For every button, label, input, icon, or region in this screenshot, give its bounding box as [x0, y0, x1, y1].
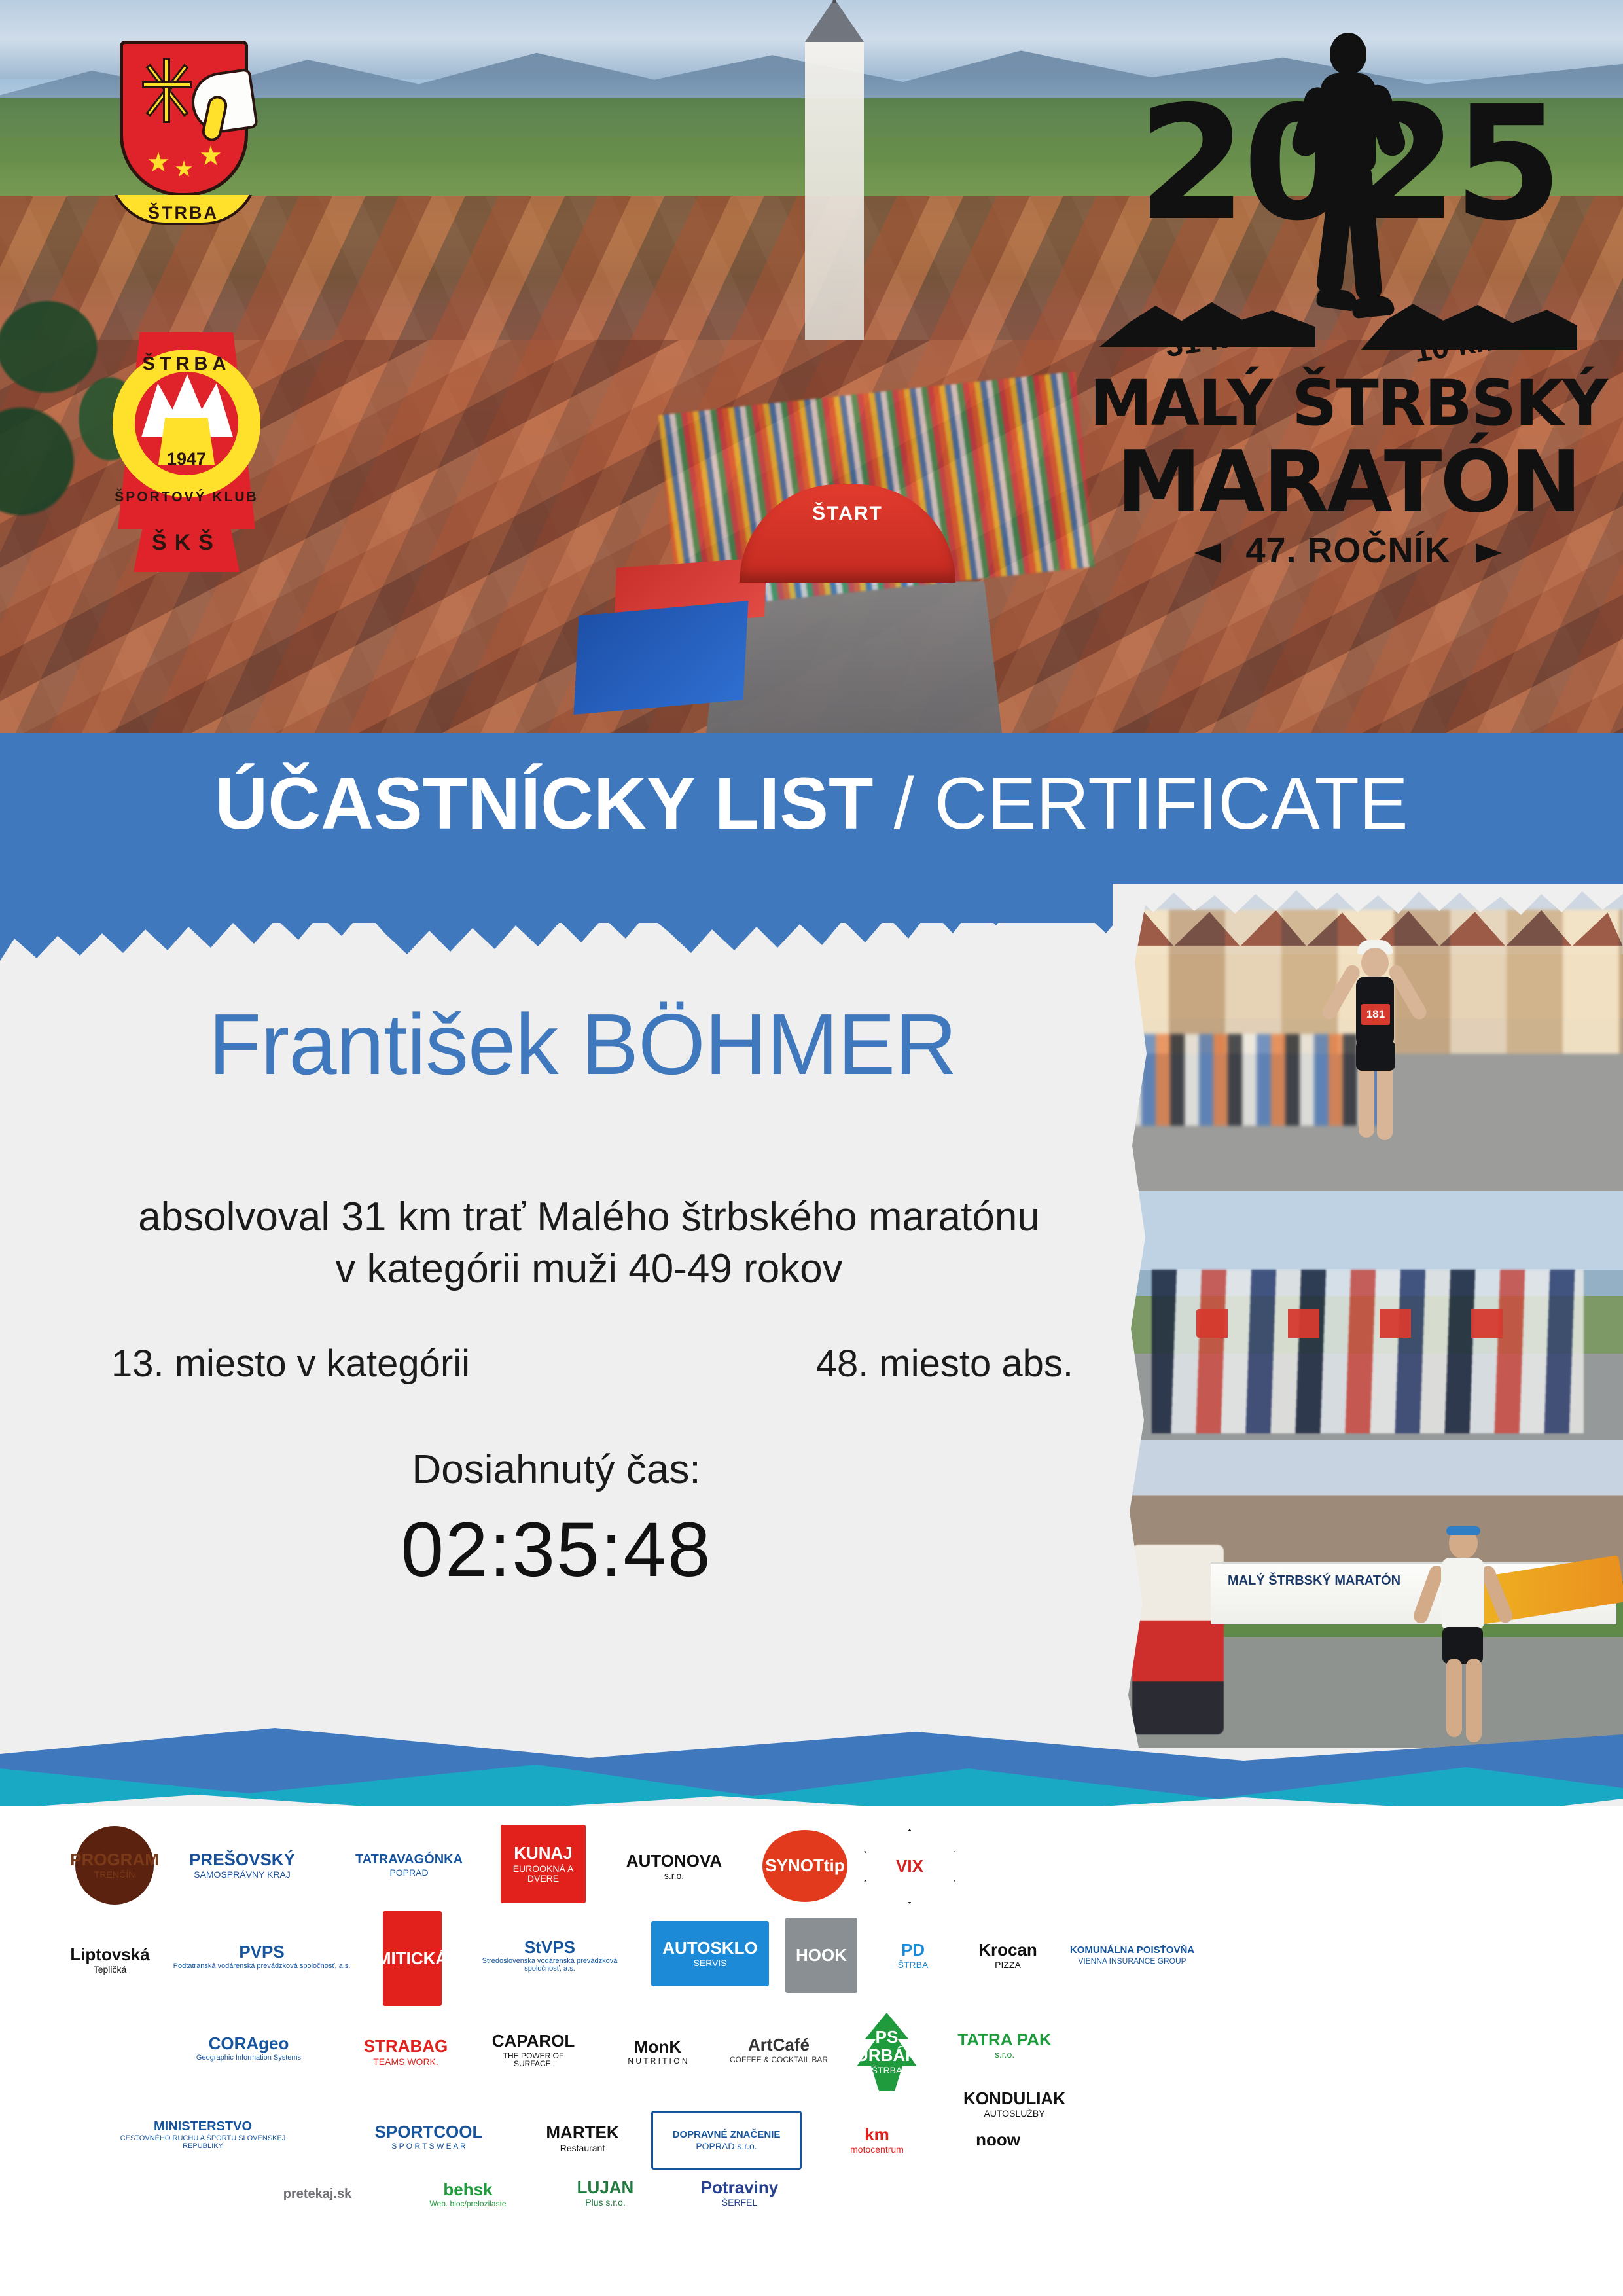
sponsor-logo: SPORTCOOLS P O R T S W E A R — [363, 2104, 494, 2170]
sponsor-logo: HOOK — [785, 1918, 857, 1993]
sponsor-name: AUTOSKLO — [662, 1939, 757, 1958]
sponsor-name: Liptovská — [70, 1946, 149, 1964]
photo-female-finisher: 181 — [1113, 884, 1623, 1204]
sponsor-logo-mark: AUTONOVAs.r.o. — [599, 1827, 749, 1906]
runner-silhouette-icon — [1296, 33, 1400, 340]
sponsor-logo: KOMUNÁLNA POISŤOVŇAVIENNA INSURANCE GROU… — [1063, 1919, 1201, 1991]
sports-club-logo: ŠTRBA 1947 ŠPORTOVÝ KLUB ŠKŠ — [98, 326, 275, 575]
sponsor-logo-mark: KOMUNÁLNA POISŤOVŇAVIENNA INSURANCE GROU… — [1063, 1919, 1201, 1991]
sponsor-name: PVPS — [239, 1943, 284, 1962]
sponsor-logo-mark: LiptovskáTepličká — [61, 1911, 159, 2009]
place-absolute: 48. miesto abs. — [816, 1342, 1113, 1386]
sponsor-tagline: THE POWER OF SURFACE. — [484, 2052, 583, 2068]
sponsor-name: PS URBÁR — [850, 2028, 923, 2064]
finish-time: 02:35:48 — [79, 1505, 1034, 1594]
photo-runner-group — [1113, 1191, 1623, 1453]
event-edition-row: 47. ROČNÍK — [1086, 530, 1610, 571]
title-slovak: ÚČASTNÍCKY LIST — [215, 762, 873, 844]
sponsor-name: MonK — [634, 2038, 681, 2056]
sponsor-name: km — [865, 2126, 889, 2144]
sponsor-logo-mark: PDŠTRBA — [874, 1916, 952, 1995]
sponsor-logo: STRABAGTEAMS WORK. — [344, 2021, 468, 2083]
male-finisher-figure — [1420, 1518, 1505, 1734]
sponsor-logo: noow — [952, 2111, 1044, 2170]
sponsor-logo: PREŠOVSKÝSAMOSPRÁVNY KRAJ — [167, 1833, 317, 1898]
sponsor-tagline: VIENNA INSURANCE GROUP — [1078, 1957, 1186, 1965]
sponsor-logo-mark: SYNOTtip — [762, 1830, 847, 1902]
start-arch-label: ŠTART — [812, 503, 883, 525]
sponsor-logo-mark: PROGRAMTRENČÍN — [75, 1826, 154, 1905]
sponsor-logo: MITICKÁ — [383, 1911, 442, 2006]
sponsor-name: TATRAVAGÓNKA — [355, 1853, 463, 1867]
folk-costume-spectator — [1132, 1545, 1224, 1734]
club-abbrev: ŠKŠ — [98, 530, 275, 556]
sponsor-logo: kmmotocentrum — [828, 2108, 926, 2173]
sponsor-logo-mark: noow — [952, 2111, 1044, 2170]
runner-group — [1152, 1270, 1584, 1433]
triple-cross-icon — [138, 58, 194, 123]
race-bibs — [1196, 1309, 1510, 1338]
sponsor-tagline: Podtatranská vodárenská prevádzková spol… — [173, 1963, 351, 1971]
sponsor-tagline: POPRAD s.r.o. — [696, 2142, 757, 2151]
sponsor-logo-mark: MARTEKRestaurant — [533, 2101, 632, 2176]
event-logo: 2025 31 km 10 km MALÝ ŠTRBSKÝ MARATÓN 47… — [1086, 26, 1610, 602]
sponsor-tagline: COFFEE & COCKTAIL BAR — [730, 2056, 828, 2064]
arrow-left-icon — [1194, 543, 1221, 563]
time-label: Dosiahnutý čas: — [79, 1446, 1034, 1493]
title-separator: / — [873, 762, 934, 844]
sponsor-logo-mark: MonKN U T R I T I O N — [605, 2019, 710, 2085]
event-title-line1: MALÝ ŠTRBSKÝ — [1086, 367, 1610, 440]
sponsor-name: AUTONOVA — [626, 1852, 722, 1871]
sponsor-tagline: PIZZA — [995, 1960, 1021, 1970]
sponsor-logo: PS URBÁRŠTRBA — [847, 2013, 926, 2091]
sponsor-logo-mark: PREŠOVSKÝSAMOSPRÁVNY KRAJ — [167, 1833, 317, 1898]
sponsor-name: PD — [901, 1941, 925, 1960]
sponsor-logo: AUTOSKLOSERVIS — [651, 1921, 769, 1986]
strba-coat-of-arms: ŠTRBA — [108, 41, 259, 230]
sponsor-logo-mark: PVPSPodtatranská vodárenská prevádzková … — [167, 1918, 357, 1996]
bib-number: 181 — [1361, 1004, 1390, 1025]
sponsor-logo-mark: PS URBÁRŠTRBA — [847, 2013, 926, 2091]
sponsor-logo: KrocanPIZZA — [965, 1916, 1050, 1995]
sponsor-name: TATRA PAK — [957, 2031, 1051, 2049]
sponsor-logo: TATRA PAKs.r.o. — [946, 2016, 1063, 2075]
club-arc-text: ŠPORTOVÝ KLUB — [98, 490, 275, 505]
sponsor-logo: TATRAVAGÓNKAPOPRAD — [330, 1833, 488, 1898]
sponsor-name: MARTEK — [546, 2124, 618, 2142]
sponsor-logo: MARTEKRestaurant — [533, 2101, 632, 2176]
sponsor-name: StVPS — [524, 1939, 575, 1957]
sponsor-tagline: Plus s.r.o. — [585, 2198, 625, 2208]
place-in-category: 13. miesto v kategórii — [79, 1342, 470, 1386]
sponsor-name: KONDULIAK — [963, 2090, 1065, 2108]
sponsor-logo-mark: pretekaj.sk — [252, 2172, 383, 2217]
sponsor-name: SPORTCOOL — [375, 2123, 483, 2142]
sponsor-name: behsk — [443, 2181, 492, 2199]
sponsor-logo-mark: CORAgeoGeographic Information Systems — [167, 2016, 330, 2081]
sponsor-logo: DOPRAVNÉ ZNAČENIEPOPRAD s.r.o. — [651, 2111, 802, 2170]
sponsor-logo-mark: AUTOSKLOSERVIS — [651, 1921, 769, 1986]
sponsor-logo-mark: TATRAVAGÓNKAPOPRAD — [330, 1833, 488, 1898]
sponsor-logo-mark: VIX — [864, 1829, 955, 1904]
participant-name: František BÖHMER — [98, 995, 1067, 1094]
certificate-page: ŠTART ŠTRBA ŠTRBA 1947 ŠPORTOVÝ KLUB ŠKŠ… — [0, 0, 1623, 2296]
title-english: CERTIFICATE — [935, 762, 1408, 844]
participant-description: absolvoval 31 km trať Malého štrbského m… — [79, 1191, 1099, 1295]
sponsor-logo-mark: TATRA PAKs.r.o. — [946, 2016, 1063, 2075]
sponsor-logo-mark: PotravinyŠERFEL — [681, 2166, 798, 2220]
sponsor-name: LUJAN — [577, 2179, 634, 2197]
photo-finish-line: MALÝ ŠTRBSKÝ MARATÓN — [1113, 1440, 1623, 1748]
sponsor-name: CORAgeo — [209, 2035, 289, 2053]
sponsor-logo: PVPSPodtatranská vodárenská prevádzková … — [167, 1918, 357, 1996]
sponsor-logo: SYNOTtip — [762, 1830, 847, 1902]
sponsor-logo: PotravinyŠERFEL — [681, 2166, 798, 2220]
sponsor-logo: CORAgeoGeographic Information Systems — [167, 2016, 330, 2081]
sponsor-name: STRABAG — [364, 2037, 448, 2056]
sponsor-name: ArtCafé — [748, 2036, 810, 2054]
crest-name: ŠTRBA — [111, 203, 256, 223]
sponsor-logo: AUTONOVAs.r.o. — [599, 1827, 749, 1906]
sponsor-logo-grid: PROGRAMTRENČÍNPREŠOVSKÝSAMOSPRÁVNY KRAJT… — [36, 1813, 1149, 2206]
sponsor-logo: CAPAROLTHE POWER OF SURFACE. — [481, 2013, 586, 2088]
sponsor-name: VIX — [896, 1857, 923, 1876]
sponsor-section: PROGRAMTRENČÍNPREŠOVSKÝSAMOSPRÁVNY KRAJT… — [0, 1806, 1623, 2296]
sponsor-tagline: s.r.o. — [664, 1871, 684, 1881]
sponsor-logo-mark: kmmotocentrum — [828, 2108, 926, 2173]
sponsor-name: pretekaj.sk — [283, 2187, 352, 2201]
sponsor-logo-mark: DOPRAVNÉ ZNAČENIEPOPRAD s.r.o. — [651, 2111, 802, 2170]
event-edition: 47. ROČNÍK — [1245, 530, 1450, 571]
sponsor-tagline: ŠTRBA — [898, 1960, 929, 1970]
sponsor-logo-mark: behskWeb. bloc/prelozilaste — [409, 2172, 527, 2217]
description-line1: absolvoval 31 km trať Malého štrbského m… — [79, 1191, 1099, 1243]
sponsor-tagline: Geographic Information Systems — [196, 2054, 301, 2062]
sponsor-logo: MonKN U T R I T I O N — [605, 2019, 710, 2085]
sponsor-tagline: SERVIS — [693, 1958, 726, 1968]
sponsor-tagline: ŠERFEL — [722, 2198, 757, 2208]
sponsor-tagline: POPRAD — [389, 1868, 428, 1878]
sponsor-tagline: EUROOKNÁ A DVERE — [503, 1864, 583, 1884]
sponsor-tagline: Stredoslovenská vodárenská prevádzková s… — [464, 1958, 635, 1973]
sponsor-name: PREŠOVSKÝ — [189, 1851, 295, 1869]
photo-collage: 181 MALÝ ŠTRBSKÝ MARATÓN — [1113, 884, 1623, 1748]
sponsor-logo: MINISTERSTVOCESTOVNÉHO RUCHU A ŠPORTU SL… — [108, 2096, 298, 2174]
placement-row: 13. miesto v kategórii 48. miesto abs. — [79, 1342, 1113, 1386]
sponsor-name: KUNAJ — [514, 1844, 573, 1863]
sponsor-logo: StVPSStredoslovenská vodárenská prevádzk… — [461, 1916, 638, 1995]
sponsor-logo-mark: CAPAROLTHE POWER OF SURFACE. — [481, 2013, 586, 2088]
sponsor-name: PROGRAM — [70, 1851, 159, 1869]
sponsor-logo-mark: SPORTCOOLS P O R T S W E A R — [363, 2104, 494, 2170]
club-top-text: ŠTRBA — [98, 353, 275, 375]
sponsor-tagline: TRENČÍN — [94, 1870, 135, 1880]
sponsor-logo: behskWeb. bloc/prelozilaste — [409, 2172, 527, 2217]
sponsor-logo-mark: KUNAJEUROOKNÁ A DVERE — [501, 1825, 586, 1903]
sponsor-name: Potraviny — [701, 2179, 779, 2197]
finish-banner-text: MALÝ ŠTRBSKÝ MARATÓN — [1228, 1573, 1400, 1589]
sponsor-tagline: N U T R I T I O N — [628, 2057, 687, 2066]
sponsor-logo: LiptovskáTepličká — [61, 1911, 159, 2009]
club-year: 1947 — [98, 449, 275, 469]
blue-tent — [574, 601, 749, 715]
sponsor-name: KOMUNÁLNA POISŤOVŇA — [1070, 1945, 1194, 1956]
sponsor-name: MITICKÁ — [377, 1950, 448, 1968]
sponsor-logo-mark: ArtCaféCOFFEE & COCKTAIL BAR — [723, 2013, 834, 2088]
event-title-line2: MARATÓN — [1086, 432, 1610, 531]
sponsor-tagline: Restaurant — [560, 2144, 605, 2153]
sponsor-tagline: CESTOVNÉHO RUCHU A ŠPORTU SLOVENSKEJ REP… — [111, 2135, 295, 2150]
sponsor-name: CAPAROL — [492, 2032, 575, 2051]
sponsor-logo: PDŠTRBA — [874, 1916, 952, 1995]
sponsor-logo-mark: LUJANPlus s.r.o. — [553, 2166, 658, 2220]
sponsor-logo-mark: STRABAGTEAMS WORK. — [344, 2021, 468, 2083]
sponsor-tagline: TEAMS WORK. — [373, 2057, 438, 2067]
sponsor-logo-mark: MITICKÁ — [383, 1911, 442, 2006]
sponsor-logo: VIX — [864, 1829, 955, 1904]
sponsor-logo-mark: MINISTERSTVOCESTOVNÉHO RUCHU A ŠPORTU SL… — [108, 2096, 298, 2174]
sponsor-tagline: motocentrum — [850, 2145, 904, 2155]
sponsor-tagline: s.r.o. — [995, 2050, 1014, 2060]
sponsor-name: Krocan — [978, 1941, 1037, 1960]
description-line2: v kategórii muži 40-49 rokov — [79, 1243, 1099, 1295]
sponsor-logo-mark: KrocanPIZZA — [965, 1916, 1050, 1995]
sponsor-tagline: Web. bloc/prelozilaste — [429, 2200, 506, 2208]
sponsor-logo: pretekaj.sk — [252, 2172, 383, 2217]
arrow-right-icon — [1476, 543, 1502, 563]
sponsor-logo-mark: StVPSStredoslovenská vodárenská prevádzk… — [461, 1916, 638, 1995]
sponsor-logo: PROGRAMTRENČÍN — [75, 1826, 154, 1905]
sponsor-logo-mark: HOOK — [785, 1918, 857, 1993]
sponsor-name: HOOK — [796, 1946, 847, 1965]
runner-figure: 181 — [1335, 936, 1414, 1152]
sponsor-name: DOPRAVNÉ ZNAČENIE — [673, 2130, 781, 2140]
sponsor-name: noow — [976, 2131, 1020, 2149]
sponsor-logo: ArtCaféCOFFEE & COCKTAIL BAR — [723, 2013, 834, 2088]
page-title: ÚČASTNÍCKY LIST / CERTIFICATE — [0, 767, 1623, 840]
sponsor-name: SYNOTtip — [765, 1857, 844, 1875]
sponsor-tagline: S P O R T S W E A R — [391, 2142, 465, 2151]
sponsor-tagline: SAMOSPRÁVNY KRAJ — [194, 1870, 291, 1880]
sponsor-name: MINISTERSTVO — [154, 2120, 252, 2134]
church-tower — [805, 39, 864, 340]
sponsor-logo: KUNAJEUROOKNÁ A DVERE — [501, 1825, 586, 1903]
sponsor-tagline: ŠTRBA — [872, 2066, 902, 2075]
sponsor-logo: LUJANPlus s.r.o. — [553, 2166, 658, 2220]
sponsor-tagline: Tepličká — [94, 1965, 127, 1975]
